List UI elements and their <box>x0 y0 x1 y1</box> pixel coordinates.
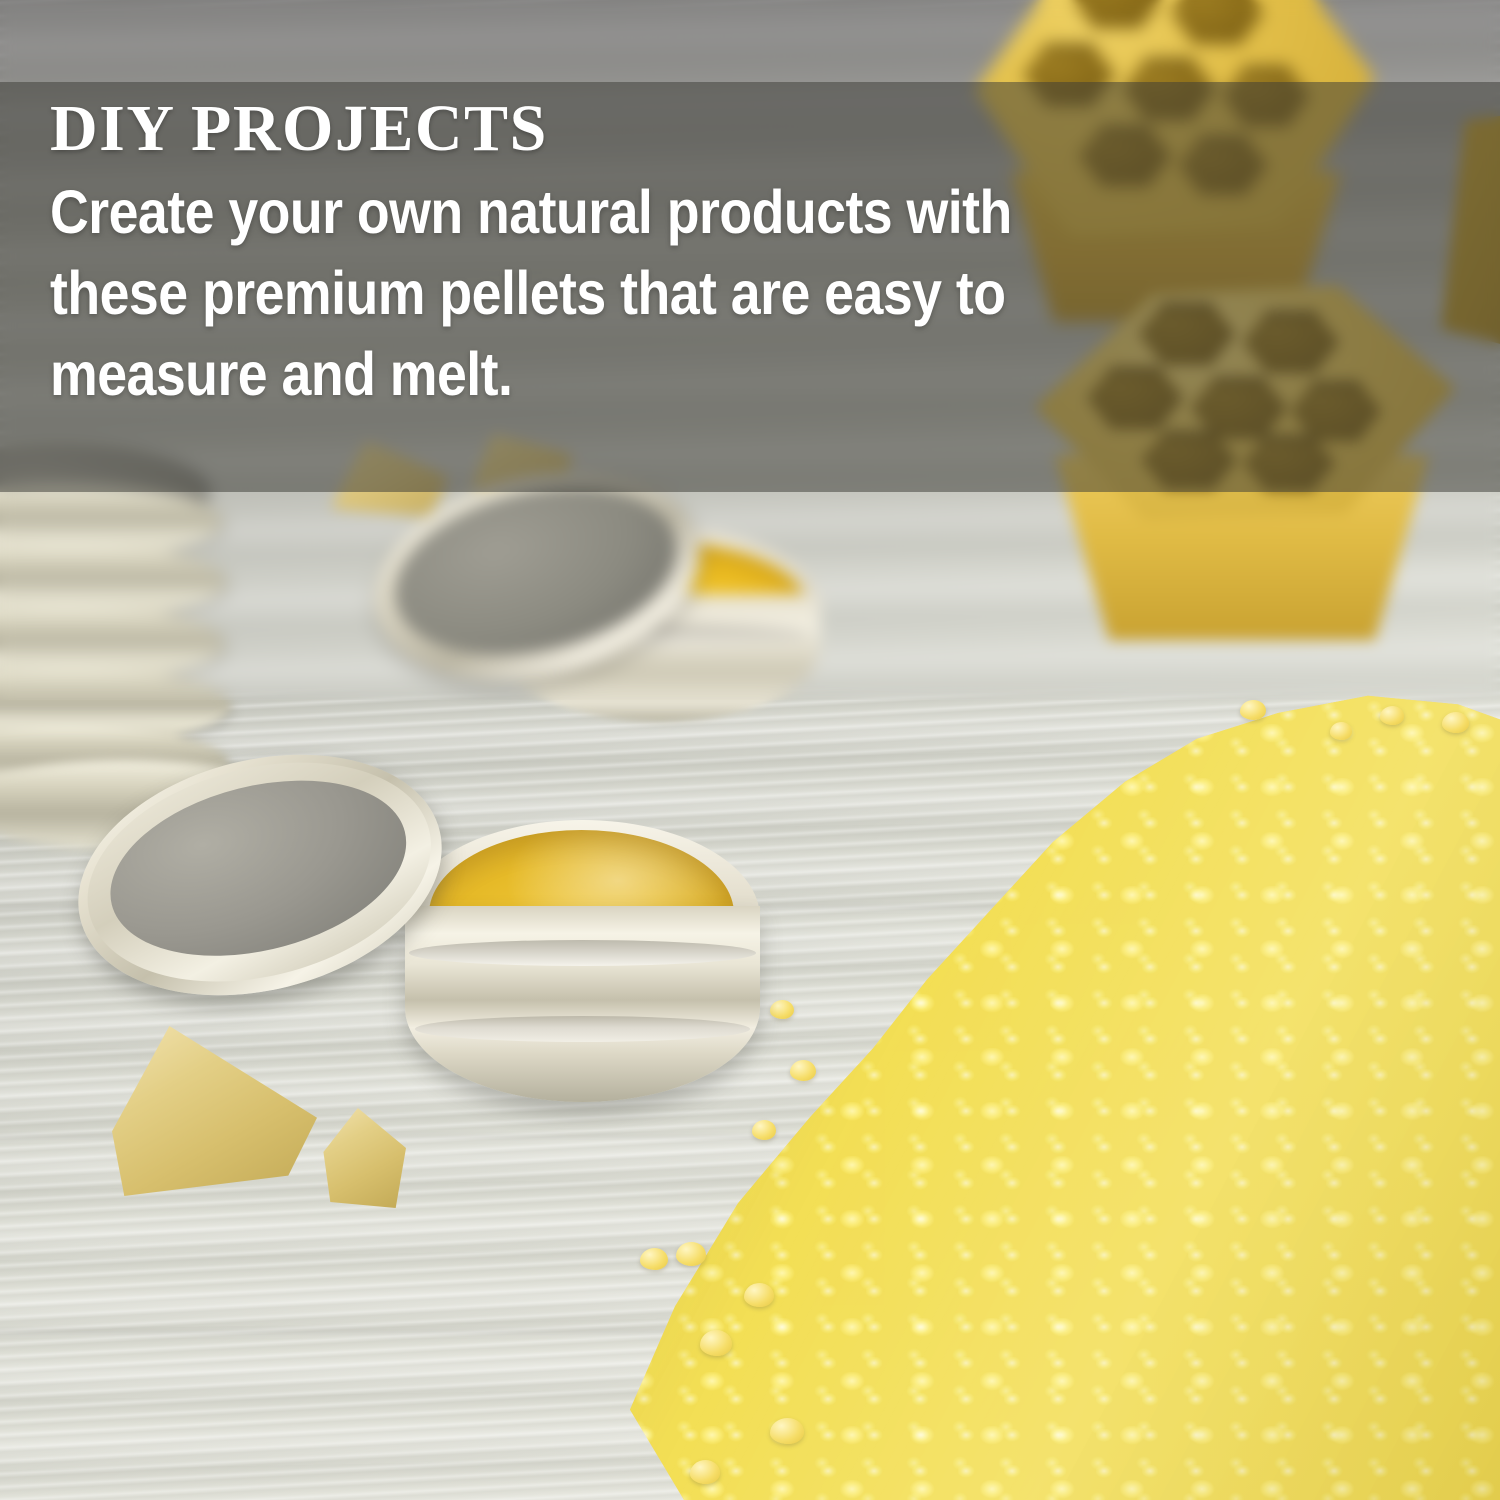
stray-pellet <box>690 1460 720 1484</box>
tin-wall-groove <box>409 940 756 966</box>
stray-pellet <box>1380 706 1404 725</box>
banner-body-text: Create your own natural products with th… <box>50 172 1194 415</box>
tin-body <box>405 820 760 1150</box>
stray-pellet <box>640 1248 668 1270</box>
banner-headline: DIY PROJECTS <box>50 96 1350 162</box>
stray-pellet <box>770 1418 804 1444</box>
stray-pellet <box>1330 722 1352 740</box>
stray-pellet <box>790 1060 816 1081</box>
stray-pellet <box>700 1330 732 1356</box>
product-lifestyle-image: DIY PROJECTS Create your own natural pro… <box>0 0 1500 1500</box>
stray-pellet <box>676 1242 706 1266</box>
stray-pellet <box>744 1283 774 1307</box>
stray-pellet <box>1442 712 1469 733</box>
stray-pellet <box>1240 700 1266 720</box>
banner-text-block: DIY PROJECTS Create your own natural pro… <box>50 96 1350 415</box>
tin-wall-groove <box>415 1016 750 1042</box>
